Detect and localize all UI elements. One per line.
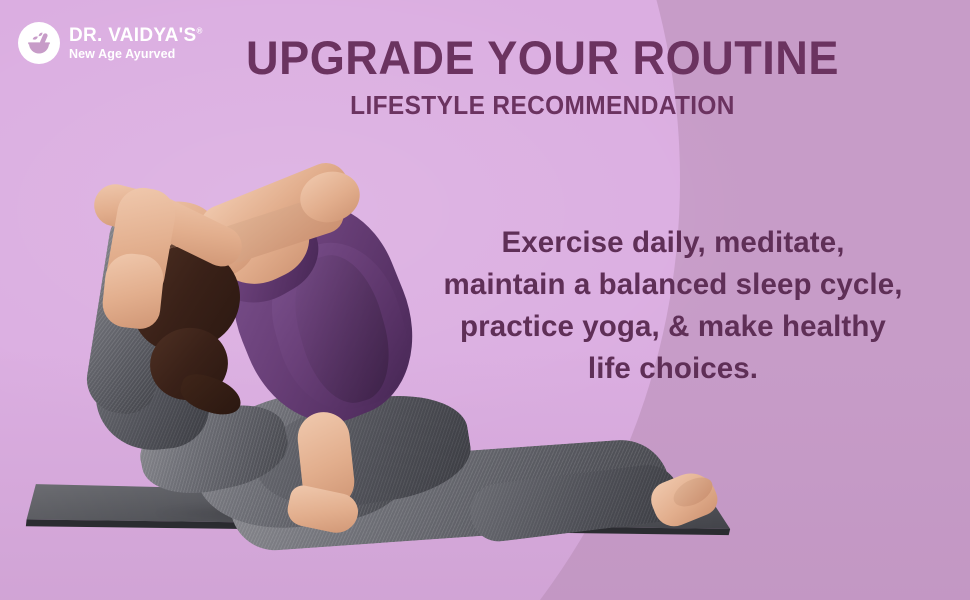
yoga-photo [0, 170, 780, 600]
mortar-and-pestle-icon [18, 22, 60, 64]
gripping-hand [100, 251, 165, 331]
promotional-banner: DR. VAIDYA'S® New Age Ayurved UPGRADE YO… [0, 0, 970, 600]
heading-block: UPGRADE YOUR ROUTINE LIFESTYLE RECOMMEND… [180, 34, 905, 121]
page-title: UPGRADE YOUR ROUTINE [195, 34, 891, 82]
brand-logo[interactable]: DR. VAIDYA'S® New Age Ayurved [18, 22, 203, 64]
page-subtitle: LIFESTYLE RECOMMENDATION [202, 90, 884, 121]
